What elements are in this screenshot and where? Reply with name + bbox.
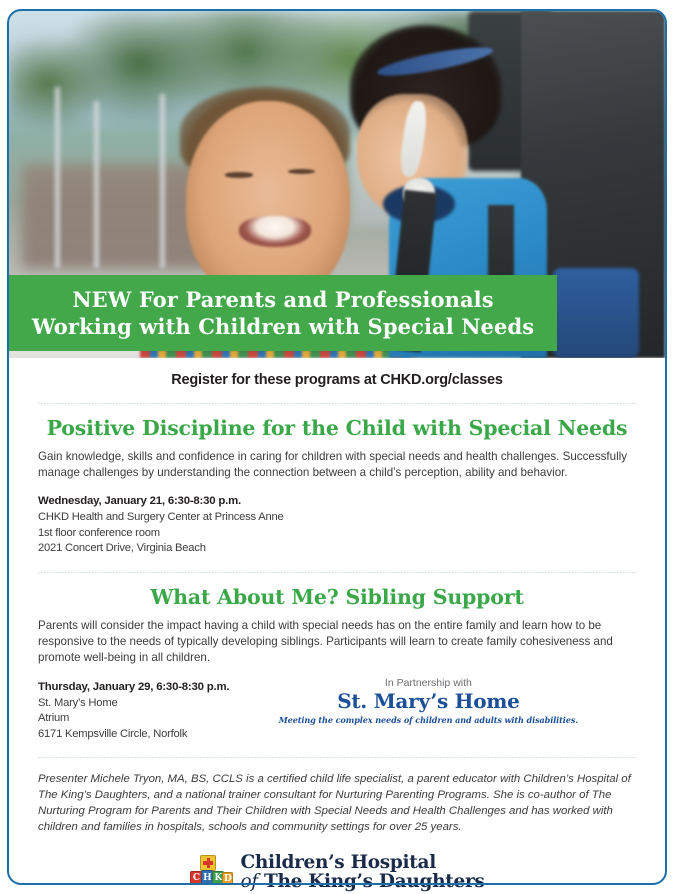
divider-1 bbox=[38, 403, 636, 404]
program-2-details-row: Thursday, January 29, 6:30-8:30 p.m. St.… bbox=[38, 667, 636, 743]
photo-man-eye-left bbox=[225, 172, 253, 177]
divider-2 bbox=[38, 572, 636, 573]
program-1-title: Positive Discipline for the Child with S… bbox=[38, 416, 636, 440]
photo-man-face bbox=[186, 101, 350, 302]
cross-icon bbox=[203, 858, 213, 868]
program-2-description: Parents will consider the impact having … bbox=[38, 618, 636, 667]
program-1-when: Wednesday, January 21, 6:30-8:30 p.m. bbox=[38, 495, 636, 507]
chkd-logo-text: Children’s Hospital of The King’s Daught… bbox=[240, 854, 484, 892]
program-1-description: Gain knowledge, skills and confidence in… bbox=[38, 449, 636, 481]
chkd-logo-of: of bbox=[240, 871, 257, 892]
program-2-title: What About Me? Sibling Support bbox=[38, 585, 636, 609]
block-letter-d: D bbox=[222, 872, 233, 885]
program-2-location-line-3: 6171 Kempsville Circle, Norfolk bbox=[38, 727, 229, 743]
flyer-page: NEW For Parents and Professionals Workin… bbox=[0, 0, 674, 894]
headline-line-1: NEW For Parents and Professionals bbox=[72, 286, 493, 313]
medical-cross-block-icon bbox=[200, 855, 216, 871]
program-1-location-line-2: 1st floor conference room bbox=[38, 526, 636, 542]
program-2-details: Thursday, January 29, 6:30-8:30 p.m. St.… bbox=[38, 667, 229, 743]
program-1-location-line-1: CHKD Health and Surgery Center at Prince… bbox=[38, 510, 636, 526]
program-2-location-line-2: Atrium bbox=[38, 711, 229, 727]
partner-name: St. Mary’s Home bbox=[279, 690, 578, 713]
photo-pole-2 bbox=[94, 101, 99, 268]
photo-pole-1 bbox=[55, 87, 60, 267]
register-line: Register for these programs at CHKD.org/… bbox=[38, 372, 636, 388]
program-1-location-line-3: 2021 Concert Drive, Virginia Beach bbox=[38, 541, 636, 557]
divider-3 bbox=[38, 757, 636, 758]
partner-logo-block: In Partnership with St. Mary’s Home Meet… bbox=[279, 677, 578, 725]
presenter-bio: Presenter Michele Tryon, MA, BS, CCLS is… bbox=[38, 771, 636, 835]
photo-man-mouth bbox=[239, 216, 311, 247]
chkd-blocks-icon: C H K D bbox=[189, 854, 233, 892]
partner-tagline: Meeting the complex needs of children an… bbox=[279, 715, 578, 725]
photo-pole-3 bbox=[160, 94, 165, 268]
content-area: Register for these programs at CHKD.org/… bbox=[9, 358, 665, 885]
program-2-when: Thursday, January 29, 6:30-8:30 p.m. bbox=[38, 681, 229, 693]
headline-line-2: Working with Children with Special Needs bbox=[32, 313, 534, 340]
partner-pre-text: In Partnership with bbox=[279, 677, 578, 689]
program-2-location-line-1: St. Mary’s Home bbox=[38, 696, 229, 712]
photo-chair-pad bbox=[553, 268, 638, 358]
chkd-logo-line-2: of The King’s Daughters bbox=[240, 873, 484, 892]
headline-banner: NEW For Parents and Professionals Workin… bbox=[9, 275, 557, 351]
chkd-logo: C H K D Children’s Hospital of The King’… bbox=[38, 854, 636, 892]
chkd-logo-line-2-text: The King’s Daughters bbox=[264, 871, 485, 892]
